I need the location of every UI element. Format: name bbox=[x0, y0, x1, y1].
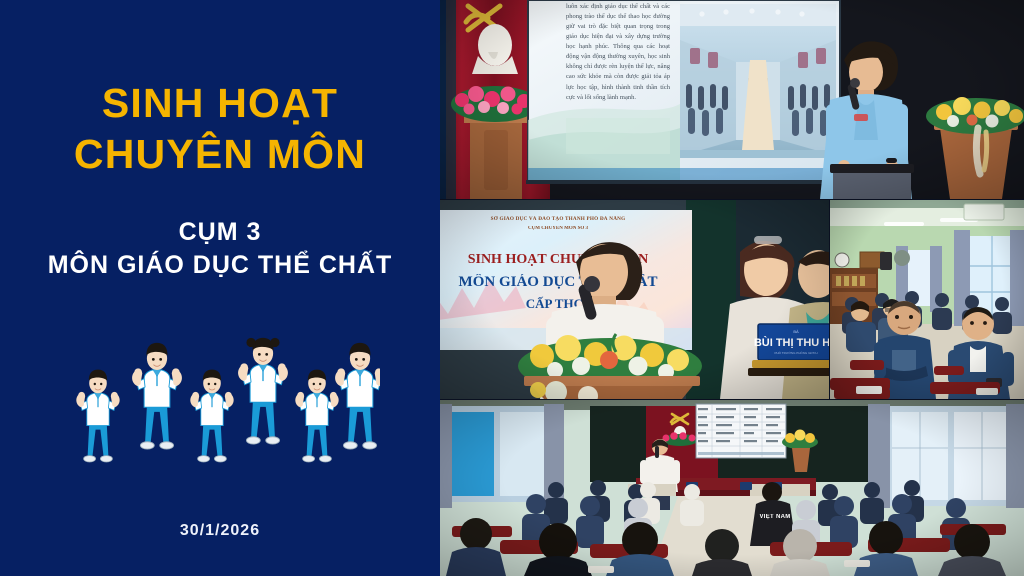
photo-mid-right-svg bbox=[830, 200, 1024, 399]
students-exercising-illustration bbox=[60, 326, 380, 486]
flower-arrangement-left bbox=[451, 86, 539, 122]
nameplate-prefix: BÀ bbox=[793, 329, 799, 334]
photo-top-svg: luôn xác định giáo dục thể chất và các p… bbox=[440, 0, 1024, 199]
banner-heading-1: SINH HOẠT CHUYÊN MÔN bbox=[440, 252, 692, 268]
nameplate-group: BÀ BÙI THỊ THU HÀ PHÓ TRƯỞNG PHÒNG GDTrH bbox=[748, 324, 829, 376]
banner-heading-2: MÔN GIÁO DỤC THỂ CHẤT bbox=[440, 274, 692, 291]
banner-org-line-2: CỤM CHUYÊN MÔN SỐ 3 bbox=[440, 226, 692, 231]
student-figure-4 bbox=[238, 338, 288, 444]
photo-bottom-svg: VIỆT NAM bbox=[440, 400, 1024, 576]
student-figure-3 bbox=[190, 370, 233, 462]
photo-bottom-auditorium: VIỆT NAM bbox=[440, 400, 1024, 576]
page-subtitle: CỤM 3 MÔN GIÁO DỤC THỂ CHẤT bbox=[48, 216, 393, 284]
nameplate-name-text: BÙI THỊ THU HÀ bbox=[754, 336, 829, 349]
student-figure-5 bbox=[295, 370, 338, 462]
students-svg bbox=[60, 326, 380, 486]
student-figure-1 bbox=[76, 370, 119, 462]
student-figure-2 bbox=[132, 343, 182, 449]
photo-middle-right-attendees bbox=[830, 200, 1024, 399]
photo-top-speaker-stage: luôn xác định giáo dục thể chất và các p… bbox=[440, 0, 1024, 199]
photo-middle-left-presenter: SỞ GIÁO DỤC VÀ ĐÀO TẠO THÀNH PHỐ ĐÀ NẴNG… bbox=[440, 200, 829, 399]
poster-canvas: SINH HOẠT CHUYÊN MÔN CỤM 3 MÔN GIÁO DỤC … bbox=[0, 0, 1024, 576]
event-date: 30/1/2026 bbox=[0, 522, 440, 540]
photo-collage: luôn xác định giáo dục thể chất và các p… bbox=[440, 0, 1024, 576]
left-title-panel: SINH HOẠT CHUYÊN MÔN CỤM 3 MÔN GIÁO DỤC … bbox=[0, 0, 440, 576]
nameplate-subtitle-text: PHÓ TRƯỞNG PHÒNG GDTrH bbox=[775, 350, 818, 355]
page-title: SINH HOẠT CHUYÊN MÔN bbox=[74, 78, 366, 180]
student-figure-6 bbox=[335, 343, 380, 449]
photo-mid-left-svg: SỞ GIÁO DỤC VÀ ĐÀO TẠO THÀNH PHỐ ĐÀ NẴNG… bbox=[440, 200, 829, 399]
slide-paragraph-text: luôn xác định giáo dục thể chất và các p… bbox=[566, 2, 670, 103]
banner-org-line-1: SỞ GIÁO DỤC VÀ ĐÀO TẠO THÀNH PHỐ ĐÀ NẴNG bbox=[440, 216, 692, 222]
jacket-text: VIỆT NAM bbox=[756, 514, 794, 520]
